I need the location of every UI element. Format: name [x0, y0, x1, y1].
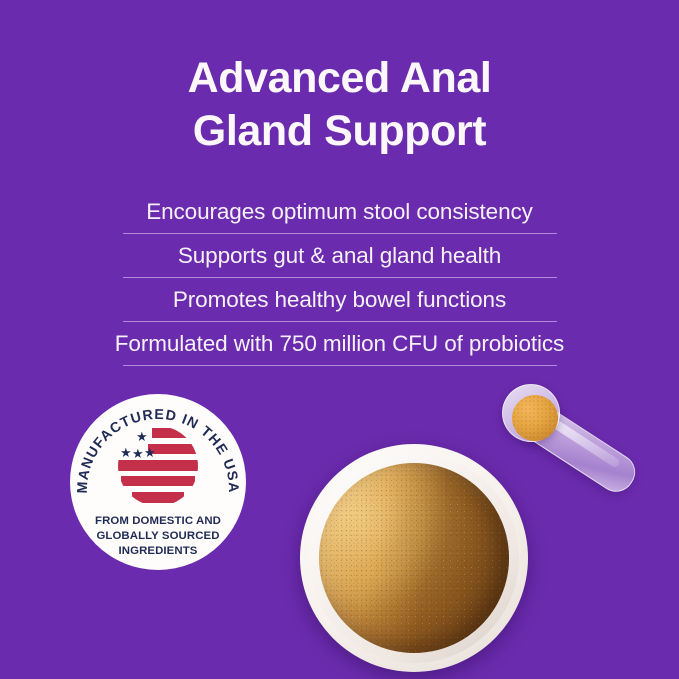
benefit-list: Encourages optimum stool consistency Sup… [0, 190, 679, 366]
list-item: Supports gut & anal gland health [0, 234, 679, 278]
badge-subtext-line-2: GLOBALLY SOURCED [70, 529, 246, 544]
product-jar [300, 444, 528, 672]
list-item: Formulated with 750 million CFU of probi… [0, 322, 679, 366]
measuring-scoop [498, 378, 658, 498]
list-item: Encourages optimum stool consistency [0, 190, 679, 234]
scoop-powder [512, 395, 558, 441]
flag-star-icon: ★ [120, 446, 132, 459]
scoop-bowl [502, 384, 560, 442]
badge-subtext: FROM DOMESTIC AND GLOBALLY SOURCED INGRE… [70, 514, 246, 559]
flag-stripe [152, 428, 198, 438]
usa-flag-icon: ★ ★ ★ ★ [118, 426, 198, 506]
made-in-usa-badge: MANUFACTURED IN THE USA ★ ★ ★ ★ FROM DOM… [70, 394, 246, 570]
flag-stripe [118, 460, 198, 471]
badge-subtext-line-3: INGREDIENTS [70, 544, 246, 559]
headline-line-2: Gland Support [0, 105, 679, 158]
divider [123, 365, 557, 366]
benefit-label: Promotes healthy bowel functions [173, 289, 506, 312]
flag-stripe [132, 492, 184, 503]
badge-subtext-line-1: FROM DOMESTIC AND [70, 514, 246, 529]
page-title: Advanced Anal Gland Support [0, 52, 679, 159]
benefit-label: Supports gut & anal gland health [178, 245, 501, 268]
list-item: Promotes healthy bowel functions [0, 278, 679, 322]
product-feature-image: Advanced Anal Gland Support Encourages o… [0, 0, 679, 679]
flag-star-icon: ★ [136, 430, 148, 443]
headline-line-1: Advanced Anal [0, 52, 679, 105]
flag-stripe [121, 476, 195, 486]
benefit-label: Formulated with 750 million CFU of probi… [115, 333, 564, 356]
benefit-label: Encourages optimum stool consistency [146, 201, 533, 224]
jar-inner-shadow [319, 463, 509, 653]
scoop-powder-texture [512, 395, 558, 441]
flag-star-icon: ★ [144, 446, 156, 459]
flag-star-icon: ★ [132, 447, 144, 460]
